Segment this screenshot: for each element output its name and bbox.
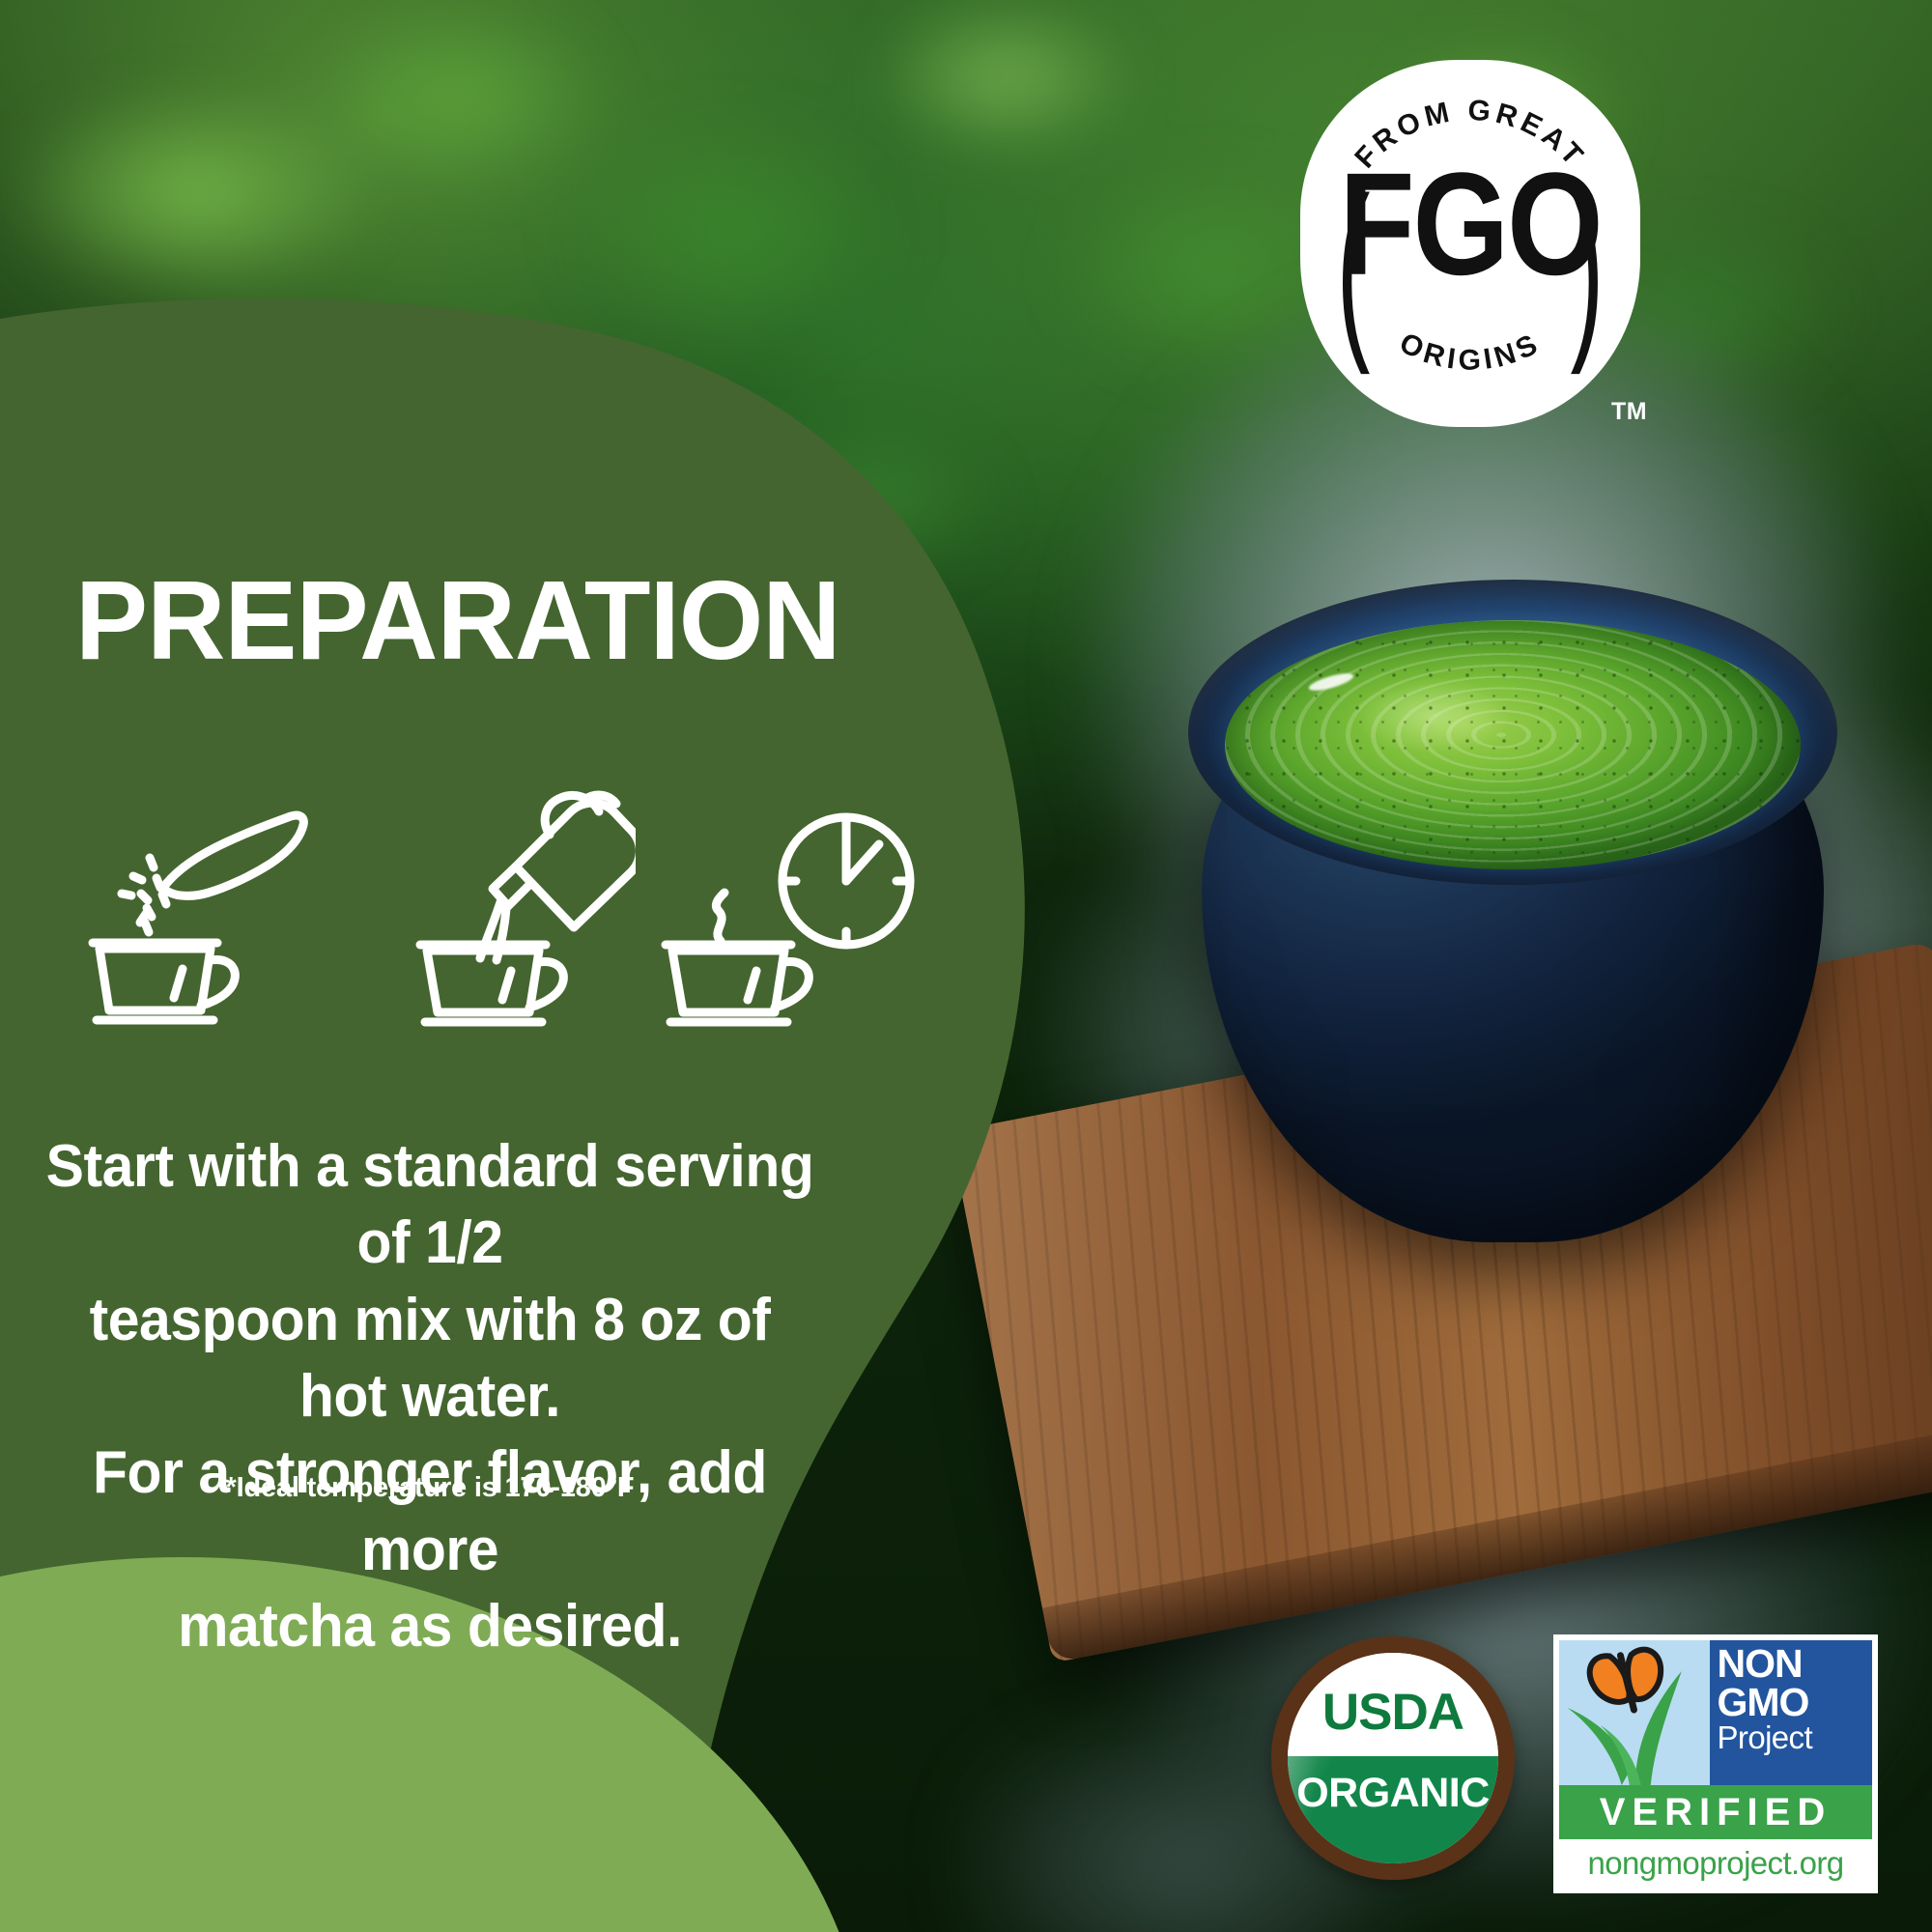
usda-bottom-half: ORGANIC	[1288, 1756, 1498, 1863]
nongmo-text-panel: NON GMO Project	[1710, 1640, 1872, 1785]
trademark-symbol: TM	[1611, 398, 1647, 426]
matcha-froth-specks	[1225, 620, 1801, 869]
instruction-line-4: matcha as desired.	[40, 1588, 820, 1664]
usda-seal-inner: USDA ORGANIC	[1288, 1653, 1498, 1863]
nongmo-top-row: NON GMO Project	[1559, 1640, 1872, 1785]
marketing-image: FROM GREAT ORIGINS ( ) FGO TM PREPARATIO…	[0, 0, 1932, 1932]
temperature-footnote: *Ideal temperature is 170-180°F	[19, 1472, 840, 1504]
spoon-pouring-powder-into-cup-icon	[56, 784, 346, 1036]
page-title: PREPARATION	[75, 564, 840, 676]
instruction-line-3: For a stronger flavor, add more	[40, 1435, 820, 1588]
steaming-cup-with-clock-icon	[636, 784, 925, 1036]
usda-top-half: USDA	[1288, 1653, 1498, 1756]
fgo-logo[interactable]: FROM GREAT ORIGINS ( ) FGO TM	[1300, 60, 1640, 427]
logo-monogram: FGO	[1300, 152, 1640, 298]
matcha-surface	[1225, 620, 1801, 869]
nongmo-line-project: Project	[1718, 1721, 1872, 1755]
usda-organic-seal: USDA ORGANIC	[1271, 1636, 1515, 1880]
instruction-line-2: teaspoon mix with 8 oz of hot water.	[40, 1282, 820, 1435]
logo-arc-bottom-text: ORIGINS	[1394, 327, 1546, 376]
step-scoop	[56, 784, 346, 1036]
nongmo-verified-band: VERIFIED	[1559, 1785, 1872, 1839]
nongmo-butterfly-panel	[1559, 1640, 1710, 1785]
matcha-bowl	[1188, 580, 1837, 1256]
instruction-text: Start with a standard serving of 1/2 tea…	[40, 1128, 820, 1665]
butterfly-and-grass-icon	[1559, 1640, 1710, 1785]
kettle-pouring-water-into-cup-icon	[346, 784, 636, 1036]
step-pour	[346, 784, 636, 1036]
usda-label: USDA	[1322, 1683, 1463, 1742]
organic-label: ORGANIC	[1296, 1770, 1490, 1817]
non-gmo-project-verified-badge: NON GMO Project VERIFIED nongmoproject.o…	[1553, 1634, 1878, 1893]
nongmo-line-gmo: GMO	[1718, 1683, 1872, 1721]
nongmo-url[interactable]: nongmoproject.org	[1559, 1839, 1872, 1888]
instruction-line-1: Start with a standard serving of 1/2	[40, 1128, 820, 1282]
nongmo-line-non: NON	[1718, 1644, 1872, 1683]
step-steep	[636, 784, 925, 1036]
preparation-steps	[56, 784, 1003, 1036]
